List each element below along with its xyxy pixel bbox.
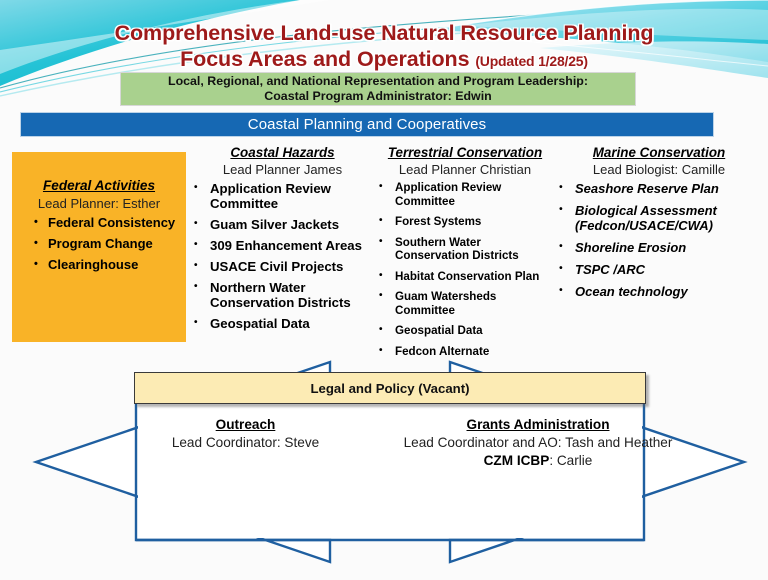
list-item: Fedcon Alternate — [375, 345, 555, 359]
title-updated-stamp: (Updated 1/28/25) — [475, 53, 588, 69]
grants-heading: Grants Administration — [388, 416, 688, 434]
federal-lead: Lead Planner: Esther — [16, 196, 182, 211]
column-lead: Lead Planner James — [190, 161, 375, 179]
coastal-planning-banner: Coastal Planning and Cooperatives — [20, 112, 714, 137]
column-item-list: Application Review Committee Forest Syst… — [375, 181, 555, 358]
outreach-heading: Outreach — [133, 416, 358, 434]
leadership-box: Local, Regional, and National Representa… — [120, 72, 636, 106]
column-heading: Terrestrial Conservation — [375, 144, 555, 161]
column-heading: Marine Conservation — [555, 144, 763, 161]
list-item: Ocean technology — [555, 284, 763, 299]
legal-policy-label: Legal and Policy (Vacant) — [310, 381, 469, 396]
banner-label: Coastal Planning and Cooperatives — [248, 116, 486, 133]
leadership-line-2: Coastal Program Administrator: Edwin — [264, 89, 491, 104]
grants-czm-label: CZM ICBP — [484, 453, 550, 468]
list-item: Forest Systems — [375, 215, 555, 229]
column-marine-conservation: Marine Conservation Lead Biologist: Cami… — [555, 144, 763, 306]
list-item: Application Review Committee — [375, 181, 555, 208]
column-heading: Coastal Hazards — [190, 144, 375, 161]
list-item: Clearinghouse — [34, 257, 182, 273]
list-item: Geospatial Data — [375, 324, 555, 338]
grants-czm-line: CZM ICBP: Carlie — [388, 452, 688, 470]
list-item: Seashore Reserve Plan — [555, 181, 763, 196]
list-item: Guam Watersheds Committee — [375, 290, 555, 317]
column-coastal-hazards: Coastal Hazards Lead Planner James Appli… — [190, 144, 375, 337]
list-item: 309 Enhancement Areas — [190, 238, 375, 253]
federal-heading: Federal Activities — [16, 178, 182, 193]
column-item-list: Seashore Reserve Plan Biological Assessm… — [555, 181, 763, 299]
column-lead: Lead Planner Christian — [375, 161, 555, 179]
leadership-line-1: Local, Regional, and National Representa… — [168, 74, 588, 89]
list-item: TSPC /ARC — [555, 262, 763, 277]
list-item: Southern Water Conservation Districts — [375, 236, 555, 263]
outreach-lead: Lead Coordinator: Steve — [133, 434, 358, 452]
title-line-2-text: Focus Areas and Operations — [180, 47, 469, 71]
page-title: Comprehensive Land-use Natural Resource … — [0, 20, 768, 74]
list-item: Geospatial Data — [190, 316, 375, 331]
list-item: Shoreline Erosion — [555, 240, 763, 255]
list-item: Program Change — [34, 236, 182, 252]
list-item: Northern Water Conservation Districts — [190, 280, 375, 310]
column-terrestrial-conservation: Terrestrial Conservation Lead Planner Ch… — [375, 144, 555, 365]
grants-lead: Lead Coordinator and AO: Tash and Heathe… — [388, 434, 688, 452]
list-item: USACE Civil Projects — [190, 259, 375, 274]
column-item-list: Application Review Committee Guam Silver… — [190, 181, 375, 331]
grants-czm-value: : Carlie — [549, 453, 592, 468]
column-lead: Lead Biologist: Camille — [555, 161, 763, 179]
grants-administration-block: Grants Administration Lead Coordinator a… — [388, 416, 688, 470]
slide-canvas: Comprehensive Land-use Natural Resource … — [0, 0, 768, 580]
federal-item-list: Federal Consistency Program Change Clear… — [16, 215, 182, 273]
list-item: Biological Assessment (Fedcon/USACE/CWA) — [555, 203, 763, 233]
federal-activities-box: Federal Activities Lead Planner: Esther … — [12, 152, 186, 342]
title-line-1: Comprehensive Land-use Natural Resource … — [0, 20, 768, 46]
list-item: Guam Silver Jackets — [190, 217, 375, 232]
legal-policy-box: Legal and Policy (Vacant) — [134, 372, 646, 404]
list-item: Habitat Conservation Plan — [375, 270, 555, 284]
list-item: Application Review Committee — [190, 181, 375, 211]
outreach-block: Outreach Lead Coordinator: Steve — [133, 416, 358, 452]
list-item: Federal Consistency — [34, 215, 182, 231]
title-line-2: Focus Areas and Operations (Updated 1/28… — [0, 46, 768, 74]
